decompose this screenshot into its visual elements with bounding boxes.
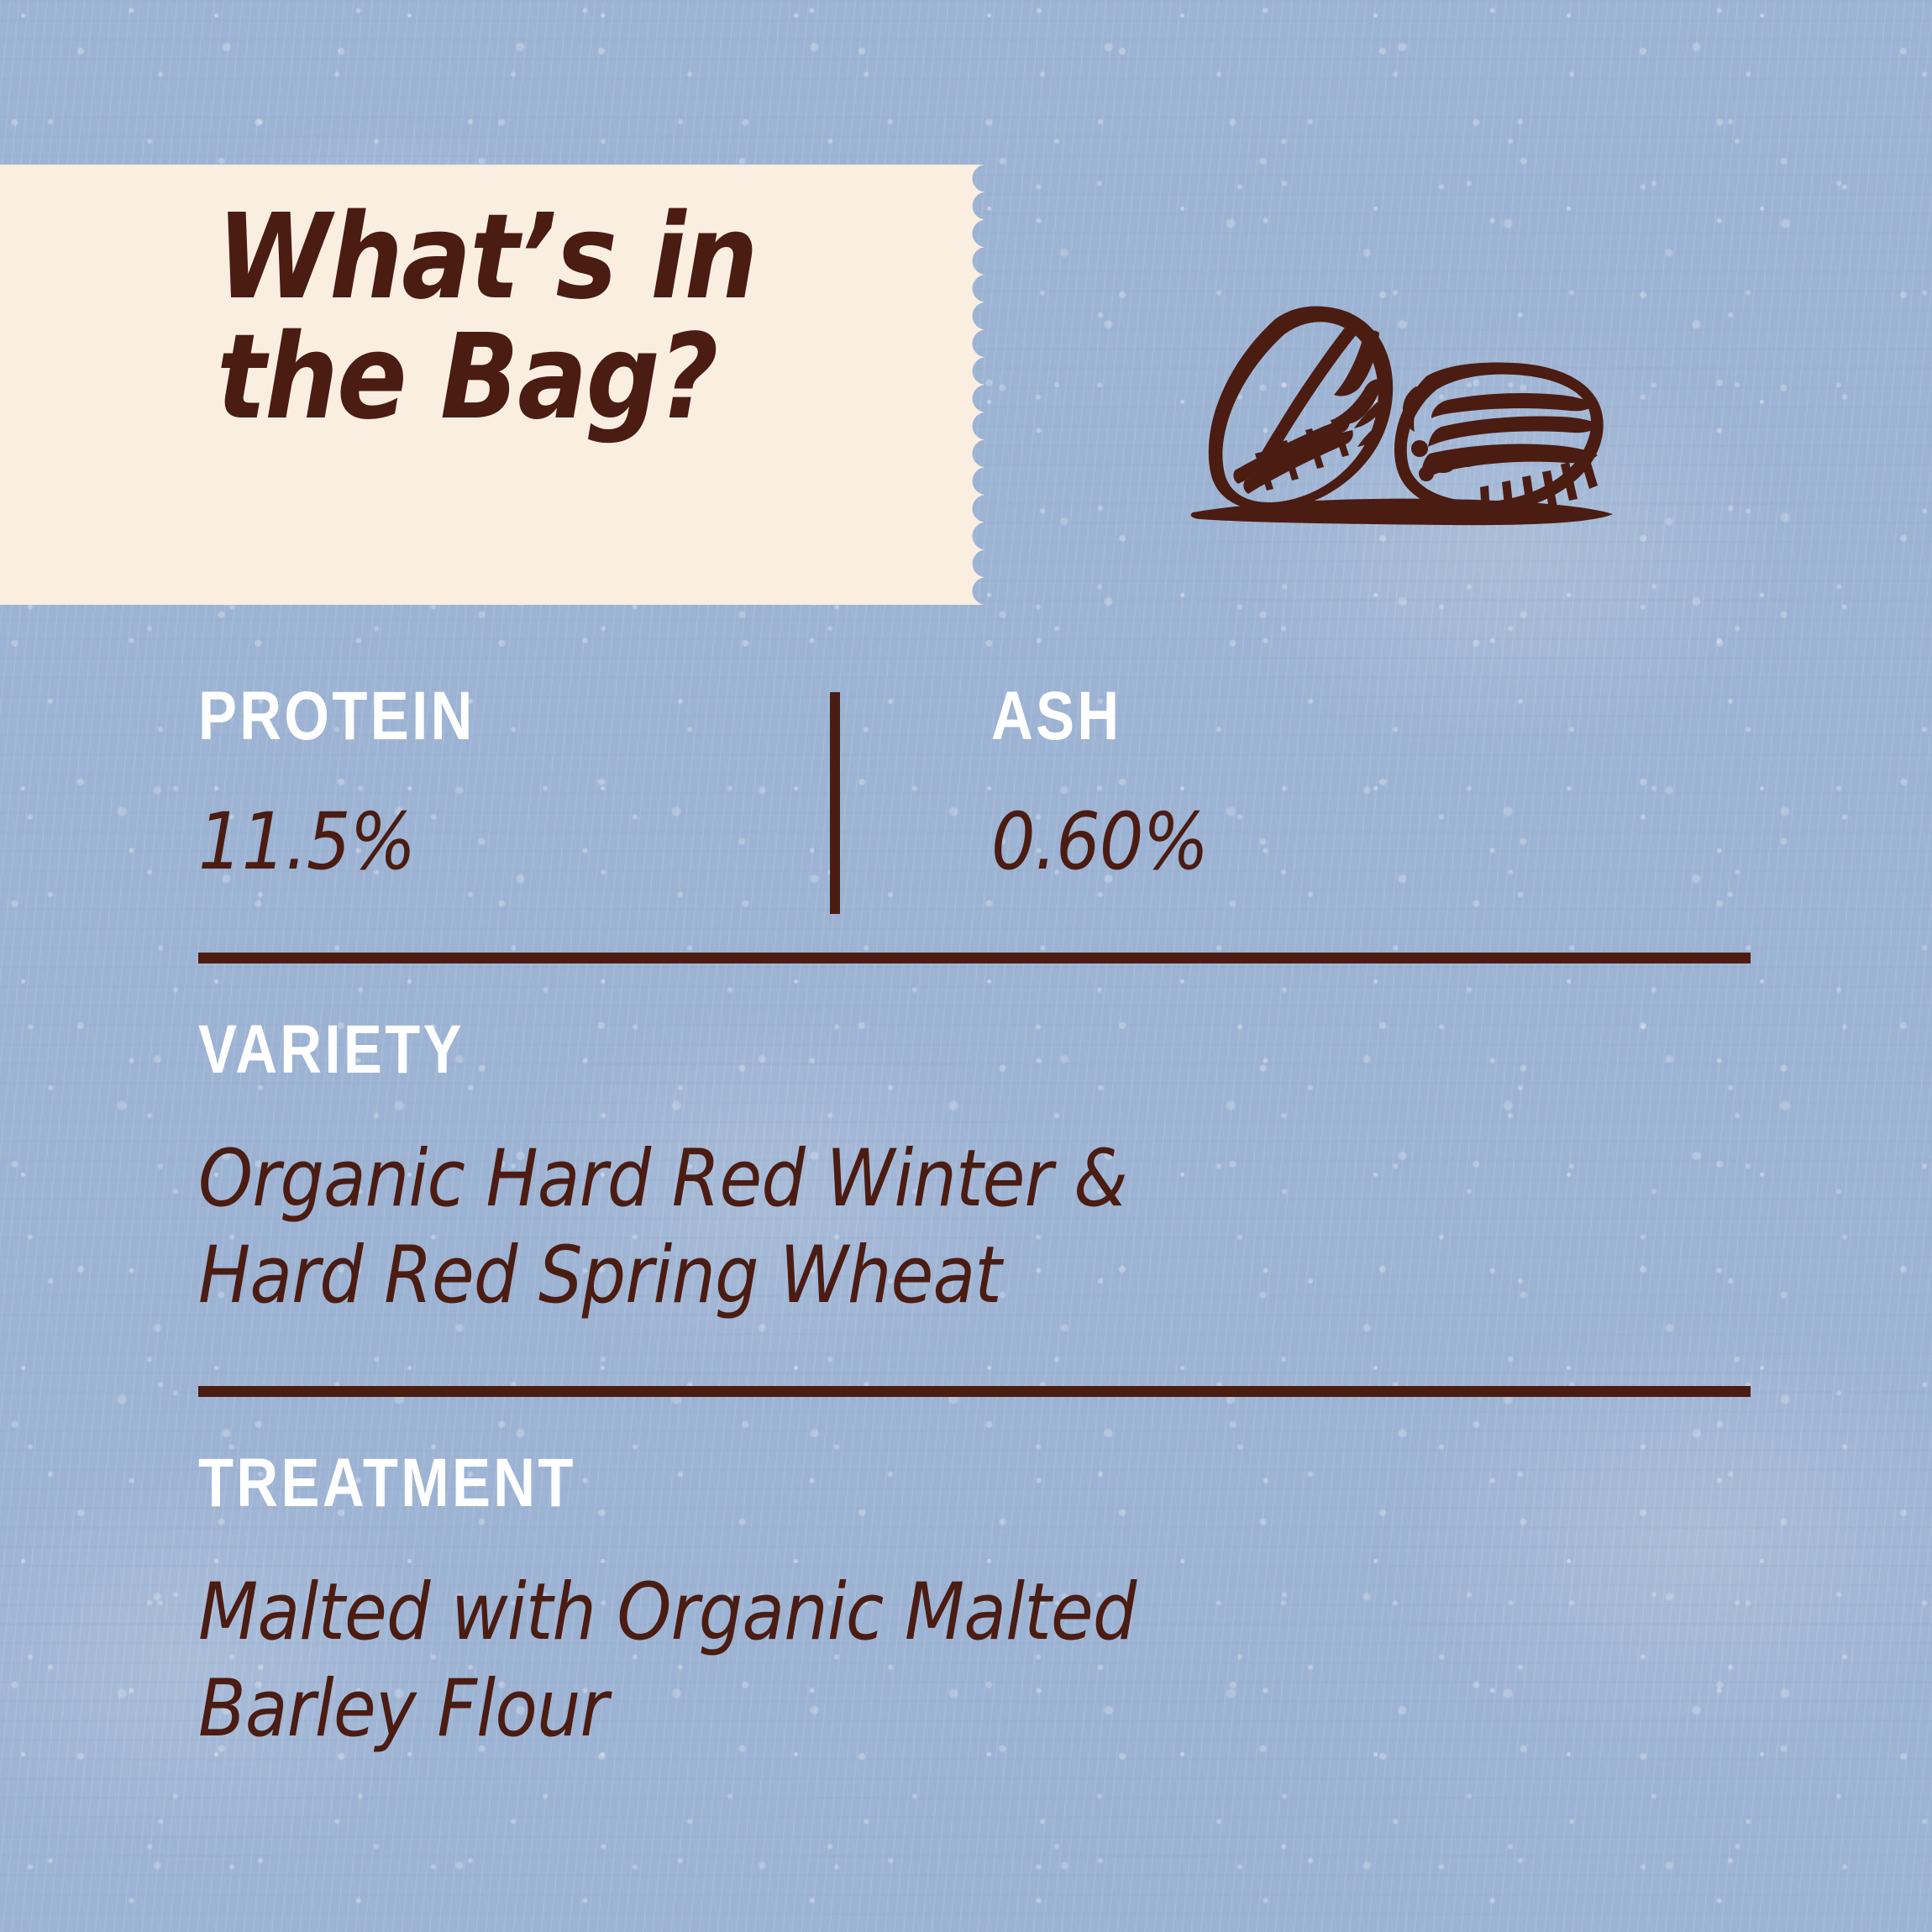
spec-value-treatment: Malted with Organic Malted Barley Flour [198,1565,1564,1757]
flour-spec-card: What’s in the Bag? [0,0,1932,1932]
spec-treatment: TREATMENT Malted with Organic Malted Bar… [198,1449,1751,1757]
spec-variety: VARIETY Organic Hard Red Winter & Hard R… [198,1016,1751,1324]
vertical-divider [830,692,840,914]
spec-row-protein-ash: PROTEIN 11.5% ASH 0.60% [198,682,1751,926]
spec-value-ash: 0.60% [991,803,1208,882]
wheat-berries-icon [1174,276,1628,528]
spec-value-protein: 11.5% [198,803,488,882]
spec-label-ash: ASH [991,682,1199,751]
divider-rule-1 [198,953,1751,963]
spec-ash: ASH 0.60% [991,682,1238,882]
divider-rule-2 [198,1386,1751,1397]
spec-label-variety: VARIETY [198,1016,1502,1084]
spec-value-variety: Organic Hard Red Winter & Hard Red Sprin… [198,1131,1564,1324]
page-title: What’s in the Bag? [217,198,757,438]
spec-list: PROTEIN 11.5% ASH 0.60% VARIETY Organic … [198,682,1751,1758]
title-banner: What’s in the Bag? [0,165,1013,605]
spec-label-treatment: TREATMENT [198,1449,1502,1518]
spec-label-protein: PROTEIN [198,682,475,751]
spec-protein: PROTEIN 11.5% [198,682,528,882]
